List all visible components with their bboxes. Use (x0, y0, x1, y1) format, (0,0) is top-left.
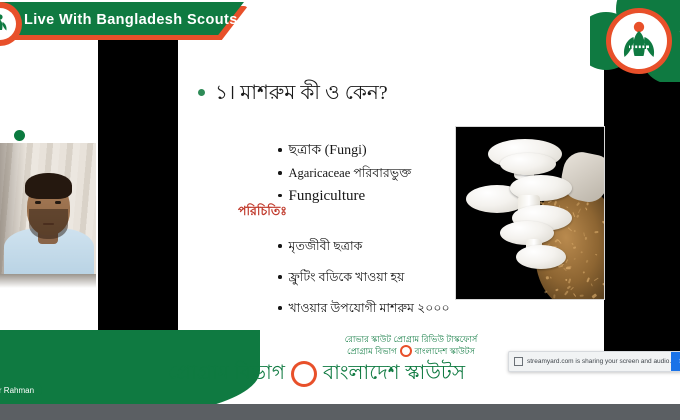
bullet-icon (278, 148, 282, 152)
slide-footer-left-text: প্রোগ্রাম বিভাগ (347, 346, 397, 357)
fleur-de-lis-icon (0, 13, 10, 34)
bullet-icon (278, 244, 282, 248)
screen-share-notification[interactable]: streamyard.com is sharing your screen an… (508, 351, 680, 372)
participant-eye (35, 201, 41, 204)
share-screen-icon (514, 357, 523, 366)
slide-title-text: ১। মাশরুম কী ও কেন? (215, 82, 388, 104)
scouts-mark-icon (291, 361, 317, 387)
slide-section-heading: পরিচিতিঃ (238, 203, 287, 223)
participant-eye (55, 201, 61, 204)
bullet-icon (278, 194, 282, 198)
oyster-mushroom-photo (455, 126, 605, 300)
webcam-participant-tile[interactable] (0, 143, 96, 274)
list-item-label: মৃতজীবী ছত্রাক (289, 239, 363, 253)
list-item-label: ছত্রাক (Fungi) (289, 143, 367, 158)
mushroom-cap (500, 153, 556, 175)
list-item-label: খাওয়ার উপযোগী মাশরুম ২০০০ (289, 301, 450, 315)
list-item-label: ফ্রুটিং বডিকে খাওয়া হয় (289, 270, 405, 284)
scouts-fleur-de-lis-icon (617, 18, 661, 64)
letterbox-right-black-band (604, 40, 680, 360)
slide-footer-line2: প্রোগ্রাম বিভাগ বাংলাদেশ স্কাউটস (296, 345, 526, 357)
participant-hair (25, 173, 72, 199)
bangladesh-scouts-emblem (606, 8, 672, 74)
bottom-strip (0, 404, 680, 420)
list-item-label: Agaricaceae পরিবারভুক্ত (289, 166, 412, 180)
list-item-label: Fungiculture (289, 188, 366, 204)
overlay-right-text: বাংলাদেশ স্কাউটস (323, 358, 465, 391)
slide-footer: রোভার স্কাউট প্রোগ্রাম রিভিউ টাস্কফোর্স … (296, 334, 526, 357)
meeting-screen-share-view: ১। মাশরুম কী ও কেন? ছত্রাক (Fungi) Agari… (0, 0, 680, 420)
stop-sharing-button[interactable]: Stop sharing (671, 352, 680, 371)
list-item: খাওয়ার উপযোগী মাশরুম ২০০০ (278, 300, 528, 320)
bullet-icon (278, 306, 282, 310)
participant-mouth (43, 223, 54, 225)
bullet-icon (278, 171, 282, 175)
scouts-mark-icon (400, 345, 412, 357)
slide-title: ১। মাশরুম কী ও কেন? (198, 78, 438, 104)
participant-name-badge: bur Rahman (0, 383, 42, 398)
slide-title-bullet-icon (198, 89, 205, 96)
share-message: streamyard.com is sharing your screen an… (527, 358, 671, 365)
banner-title: Live With Bangladesh Scouts (24, 10, 234, 30)
webcam-bottom-edge (0, 274, 96, 288)
mushroom-cap (516, 245, 566, 269)
bullet-icon (278, 275, 282, 279)
slide-footer-right-text: বাংলাদেশ স্কাউটস (415, 346, 475, 357)
overlay-left-text: প্রোগ্রাম বিভাগ (168, 358, 285, 391)
slide-footer-line1: রোভার স্কাউট প্রোগ্রাম রিভিউ টাস্কফোর্স (296, 334, 526, 345)
green-dot-marker (14, 130, 25, 141)
